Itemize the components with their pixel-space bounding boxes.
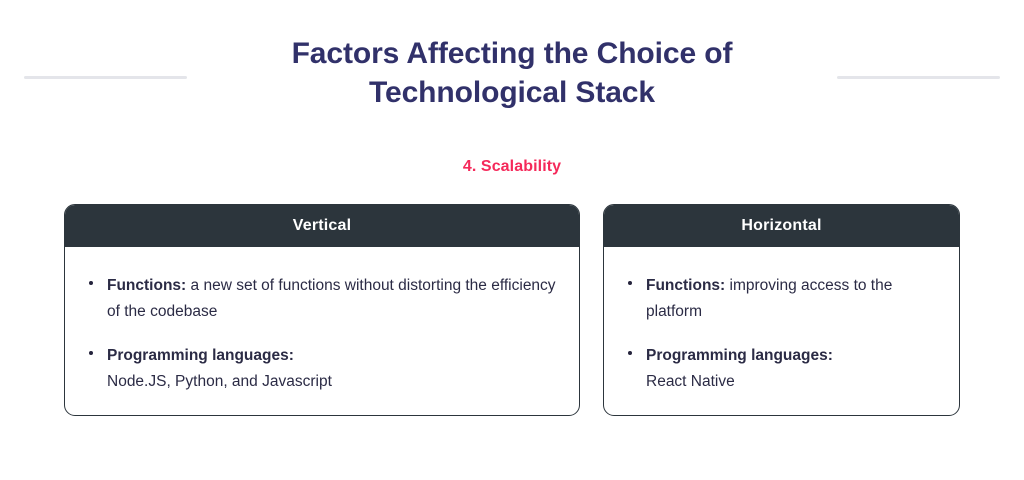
card-horizontal-body: Functions: improving access to the platf…: [604, 247, 959, 395]
card-vertical-body: Functions: a new set of functions withou…: [65, 247, 579, 395]
list-item: Programming languages:React Native: [628, 343, 939, 395]
list-item-lead: Programming languages:: [107, 347, 294, 364]
title-rule-right: [837, 76, 1000, 79]
list-item-text: Functions: a new set of functions withou…: [107, 273, 559, 325]
list-item: Functions: a new set of functions withou…: [89, 273, 559, 325]
page-title-line-2: Technological Stack: [369, 76, 655, 109]
list-item-text: Programming languages:React Native: [646, 343, 939, 395]
bullet-dot-icon: [628, 273, 646, 285]
bullet-dot-icon: [89, 343, 107, 355]
list-item: Functions: improving access to the platf…: [628, 273, 939, 325]
title-section: Factors Affecting the Choice of Technolo…: [0, 34, 1024, 118]
title-rule-left: [24, 76, 187, 79]
bullet-dot-icon: [628, 343, 646, 355]
section-subtitle: 4. Scalability: [0, 158, 1024, 176]
bullet-dot-icon: [89, 273, 107, 285]
list-item-text: Functions: improving access to the platf…: [646, 273, 939, 325]
card-vertical-header-label: Vertical: [293, 217, 352, 235]
page-title: Factors Affecting the Choice of Technolo…: [180, 34, 844, 112]
list-item-text: Programming languages:Node.JS, Python, a…: [107, 343, 559, 395]
card-vertical-header: Vertical: [65, 205, 579, 247]
card-vertical: Vertical Functions: a new set of functio…: [64, 204, 580, 416]
card-horizontal: Horizontal Functions: improving access t…: [603, 204, 960, 416]
list-item-rest: Node.JS, Python, and Javascript: [107, 369, 559, 395]
page-title-line-1: Factors Affecting the Choice of: [292, 37, 733, 70]
list-item-rest: React Native: [646, 369, 939, 395]
list-item: Programming languages:Node.JS, Python, a…: [89, 343, 559, 395]
card-horizontal-header-label: Horizontal: [741, 217, 821, 235]
list-item-lead: Functions:: [646, 277, 725, 294]
list-item-lead: Programming languages:: [646, 347, 833, 364]
list-item-lead: Functions:: [107, 277, 186, 294]
card-horizontal-header: Horizontal: [604, 205, 959, 247]
